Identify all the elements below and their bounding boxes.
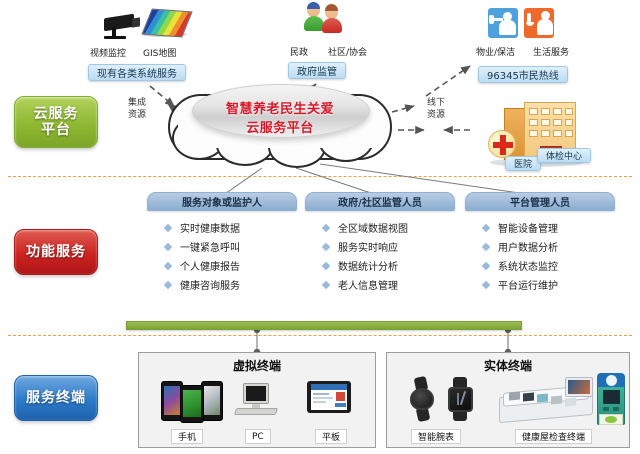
bullet-diamond-icon bbox=[482, 261, 490, 269]
cloud-title-line1: 智慧养老民生关爱 bbox=[168, 101, 392, 120]
edge-integration-line1: 集成 bbox=[122, 98, 152, 110]
function-header-service-object[interactable]: 服务对象或监护人 bbox=[147, 192, 297, 211]
function-item-label: 一键紧急呼叫 bbox=[180, 239, 240, 254]
function-item[interactable]: 数据统计分析 bbox=[305, 256, 455, 275]
tier-label-service-terminal[interactable]: 服务终端 bbox=[14, 375, 98, 421]
terminal-panel-physical-title: 实体终端 bbox=[387, 357, 629, 374]
function-item[interactable]: 平台运行维护 bbox=[465, 275, 615, 294]
life-service-icon bbox=[524, 8, 554, 38]
diagram-canvas: 云服务 平台 功能服务 服务终端 视频监控 GIS地图 现有各类系统服务 民政 … bbox=[0, 0, 640, 454]
terminal-item-label-phone: 手机 bbox=[171, 429, 203, 444]
terminal-item-label-watch: 智能腕表 bbox=[411, 429, 461, 444]
edge-offline-line2: 资源 bbox=[421, 110, 451, 122]
tier-label-function-line1: 功能服务 bbox=[26, 244, 86, 260]
capsule-exam-center[interactable]: 体检中心 bbox=[537, 148, 591, 163]
function-item-label: 老人信息管理 bbox=[338, 277, 398, 292]
terminal-item-label-tablet: 平板 bbox=[315, 429, 347, 444]
function-item[interactable]: 系统状态监控 bbox=[465, 256, 615, 275]
function-item-label: 平台运行维护 bbox=[498, 277, 558, 292]
function-item[interactable]: 用户数据分析 bbox=[465, 237, 615, 256]
function-column-government-supervisor: 政府/社区监管人员 全区域数据视图 服务实时响应 数据统计分析 老人信息管理 bbox=[305, 192, 455, 294]
terminal-panel-physical: 实体终端 智能腕表 bbox=[386, 352, 630, 448]
tier-label-cloud-platform[interactable]: 云服务 平台 bbox=[14, 96, 98, 148]
function-item-label: 数据统计分析 bbox=[338, 258, 398, 273]
property-cleaning-icon bbox=[488, 8, 518, 38]
terminal-panel-virtual-title: 虚拟终端 bbox=[139, 357, 375, 374]
cloud-platform-shape: 智慧养老民生关爱 云服务平台 bbox=[168, 80, 392, 176]
community-association-caption: 社区/协会 bbox=[328, 45, 367, 58]
function-item[interactable]: 服务实时响应 bbox=[305, 237, 455, 256]
tier-label-terminal-line1: 服务终端 bbox=[26, 390, 86, 406]
health-kiosk-icon bbox=[499, 375, 627, 425]
function-item[interactable]: 智能设备管理 bbox=[465, 218, 615, 237]
edge-label-offline: 线下 资源 bbox=[421, 98, 451, 121]
capsule-citizen-hotline[interactable]: 96345市民热线 bbox=[478, 66, 568, 83]
bullet-diamond-icon bbox=[322, 280, 330, 288]
tier-separator-bottom bbox=[8, 335, 632, 336]
bullet-diamond-icon bbox=[164, 242, 172, 250]
bullet-diamond-icon bbox=[482, 280, 490, 288]
function-item-label: 系统状态监控 bbox=[498, 258, 558, 273]
function-item-label: 用户数据分析 bbox=[498, 239, 558, 254]
tier-label-cloud-line1: 云服务 bbox=[34, 106, 79, 122]
bullet-diamond-icon bbox=[482, 242, 490, 250]
bullet-diamond-icon bbox=[482, 223, 490, 231]
gis-map-icon bbox=[146, 6, 192, 40]
function-item[interactable]: 实时健康数据 bbox=[147, 218, 297, 237]
function-header-government-supervisor[interactable]: 政府/社区监管人员 bbox=[305, 192, 455, 211]
property-cleaning-caption: 物业/保洁 bbox=[476, 45, 515, 58]
gis-map-caption: GIS地图 bbox=[143, 46, 176, 59]
function-item-label: 健康咨询服务 bbox=[180, 277, 240, 292]
bullet-diamond-icon bbox=[322, 261, 330, 269]
function-item-label: 实时健康数据 bbox=[180, 220, 240, 235]
terminal-panel-virtual: 虚拟终端 手机 PC bbox=[138, 352, 376, 448]
civil-affairs-caption: 民政 bbox=[290, 45, 308, 58]
terminal-connector-bar bbox=[126, 321, 522, 330]
capsule-existing-systems[interactable]: 现有各类系统服务 bbox=[88, 64, 186, 81]
function-item-label: 个人健康报告 bbox=[180, 258, 240, 273]
tier-label-cloud-line2: 平台 bbox=[41, 122, 71, 138]
tier-separator-top bbox=[8, 176, 632, 177]
tablet-icon bbox=[307, 381, 355, 417]
terminal-item-label-pc: PC bbox=[245, 429, 271, 444]
function-item[interactable]: 个人健康报告 bbox=[147, 256, 297, 275]
tier-label-function-service[interactable]: 功能服务 bbox=[14, 229, 98, 275]
function-item[interactable]: 一键紧急呼叫 bbox=[147, 237, 297, 256]
bullet-diamond-icon bbox=[322, 223, 330, 231]
function-item[interactable]: 老人信息管理 bbox=[305, 275, 455, 294]
capsule-government-supervision[interactable]: 政府监管 bbox=[288, 62, 346, 79]
civil-affairs-people-icon bbox=[300, 4, 356, 42]
edge-integration-line2: 资源 bbox=[122, 110, 152, 122]
bullet-diamond-icon bbox=[322, 242, 330, 250]
function-header-platform-admin[interactable]: 平台管理人员 bbox=[465, 192, 615, 211]
pc-desktop-icon bbox=[235, 381, 279, 419]
mobile-phone-icon bbox=[161, 379, 225, 423]
function-item-label: 服务实时响应 bbox=[338, 239, 398, 254]
bullet-diamond-icon bbox=[164, 261, 172, 269]
smart-watch-icon bbox=[405, 377, 485, 423]
bullet-diamond-icon bbox=[164, 280, 172, 288]
video-camera-icon bbox=[96, 8, 148, 42]
function-item[interactable]: 健康咨询服务 bbox=[147, 275, 297, 294]
cloud-title-line2: 云服务平台 bbox=[168, 120, 392, 139]
edge-label-integration: 集成 资源 bbox=[122, 98, 152, 121]
terminal-item-label-health-kiosk: 健康屋检查终端 bbox=[515, 429, 592, 444]
capsule-hospital[interactable]: 医院 bbox=[505, 156, 541, 171]
video-camera-caption: 视频监控 bbox=[90, 46, 126, 59]
life-service-caption: 生活服务 bbox=[533, 45, 569, 58]
function-item[interactable]: 全区域数据视图 bbox=[305, 218, 455, 237]
function-column-service-object: 服务对象或监护人 实时健康数据 一键紧急呼叫 个人健康报告 健康咨询服务 bbox=[147, 192, 297, 294]
function-item-label: 全区域数据视图 bbox=[338, 220, 408, 235]
bullet-diamond-icon bbox=[164, 223, 172, 231]
edge-offline-line1: 线下 bbox=[421, 98, 451, 110]
function-item-label: 智能设备管理 bbox=[498, 220, 558, 235]
function-column-platform-admin: 平台管理人员 智能设备管理 用户数据分析 系统状态监控 平台运行维护 bbox=[465, 192, 615, 294]
